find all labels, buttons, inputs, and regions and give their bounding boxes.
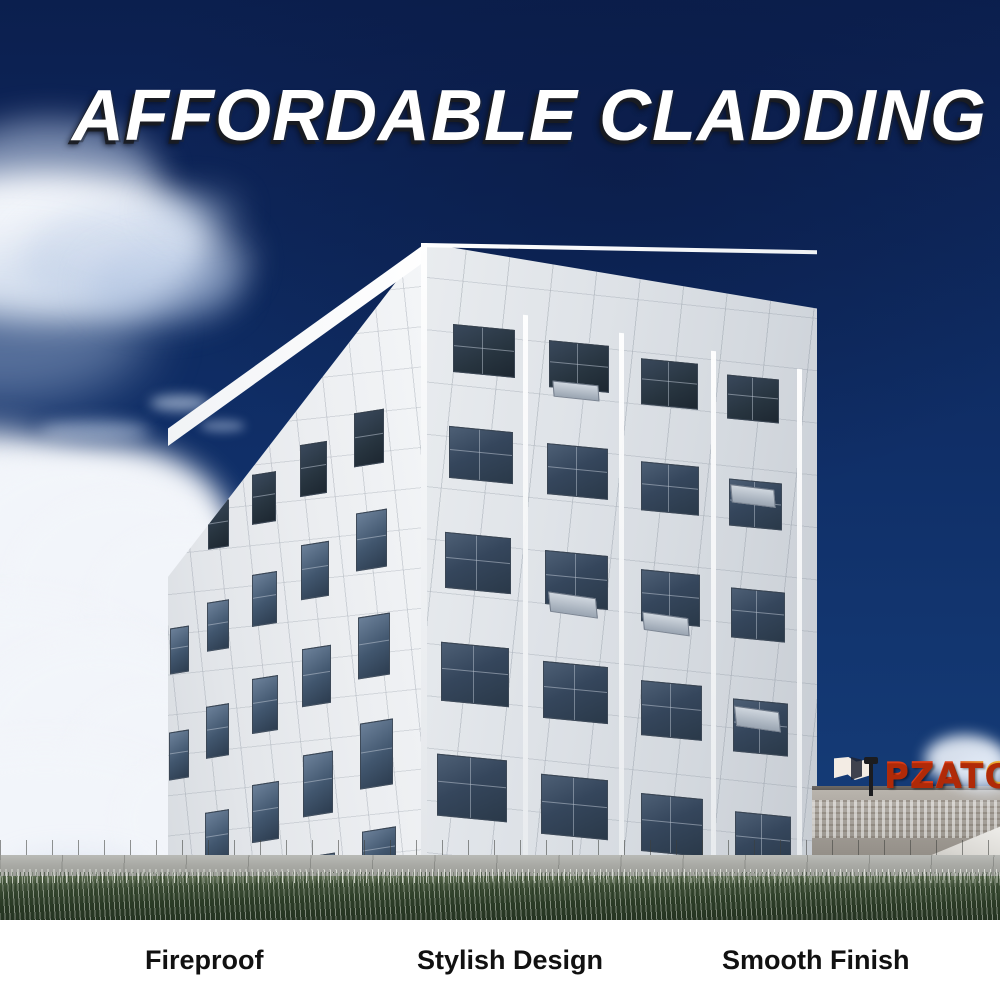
background-sign-text: PZATO <box>884 757 1000 793</box>
window <box>437 754 507 823</box>
window <box>206 703 229 759</box>
feature-label-stylish-design: Stylish Design <box>417 920 603 1000</box>
window <box>170 625 189 674</box>
flag-shadow <box>851 757 862 780</box>
window <box>208 499 229 549</box>
page-title: AFFORDABLE CLADDING <box>72 78 987 154</box>
window <box>207 599 229 651</box>
window <box>252 675 278 734</box>
window <box>358 612 390 679</box>
window <box>449 426 513 484</box>
backdrop-brick-texture <box>812 800 1000 838</box>
window <box>252 571 277 627</box>
window <box>252 781 279 843</box>
window <box>727 374 779 423</box>
window <box>354 409 384 468</box>
window <box>641 358 698 409</box>
facade-pilaster <box>711 351 716 873</box>
window <box>641 461 699 516</box>
window <box>356 509 387 572</box>
hero-photo: PZATO AFFORDABLE CLADDING <box>0 0 1000 920</box>
feature-label-fireproof: Fireproof <box>145 920 264 1000</box>
window <box>731 587 785 642</box>
window <box>360 718 393 789</box>
window <box>543 661 608 724</box>
window <box>303 751 333 818</box>
window <box>453 324 515 378</box>
window <box>641 680 702 741</box>
building-corner-edge <box>421 243 427 873</box>
grass-blade-texture <box>0 872 1000 920</box>
window <box>252 471 276 525</box>
window <box>541 774 608 840</box>
window <box>445 532 511 594</box>
building-facade-right <box>425 243 817 873</box>
feature-bar: Fireproof Stylish Design Smooth Finish <box>0 920 1000 1000</box>
window <box>169 729 189 780</box>
feature-label-smooth-finish: Smooth Finish <box>722 920 909 1000</box>
window <box>547 443 608 500</box>
poster-canvas: PZATO AFFORDABLE CLADDING Fireproof Styl… <box>0 0 1000 1000</box>
window <box>302 645 331 708</box>
window <box>300 441 327 497</box>
facade-pilaster <box>797 369 802 873</box>
facade-pilaster <box>619 333 624 873</box>
window <box>441 642 509 708</box>
window <box>301 541 329 600</box>
flagpole <box>869 760 873 796</box>
facade-pilaster <box>523 315 528 873</box>
